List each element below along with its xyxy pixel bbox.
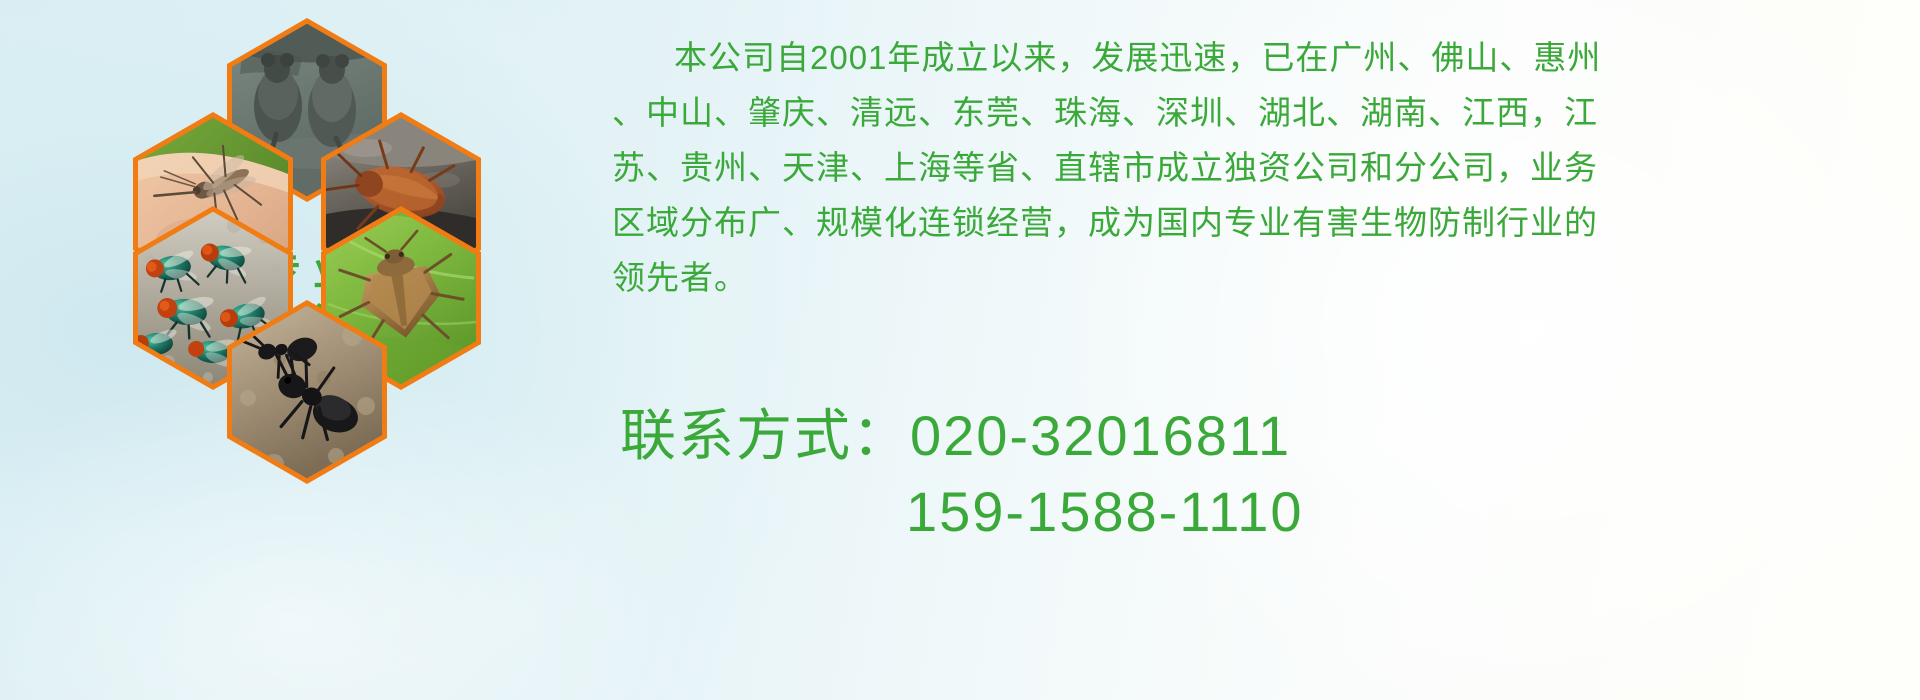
- honeycomb-photo-collage: 专业 防治: [85, 10, 585, 550]
- company-description: 本公司自2001年成立以来，发展迅速，已在广州、佛山、惠州 、中山、肇庆、清远、…: [612, 30, 1912, 305]
- contact-primary: 联系方式：020-32016811: [620, 398, 1910, 474]
- description-line-5: 领先者。: [612, 250, 1912, 305]
- pest-control-banner: 专业 防治: [0, 0, 1920, 700]
- phone-primary[interactable]: 020-32016811: [910, 404, 1291, 467]
- description-line-1: 本公司自2001年成立以来，发展迅速，已在广州、佛山、惠州: [612, 30, 1912, 85]
- contact-block: 联系方式：020-32016811 159-1588-1110: [620, 398, 1910, 550]
- phone-secondary[interactable]: 159-1588-1110: [620, 474, 1910, 550]
- description-line-2: 、中山、肇庆、清远、东莞、珠海、深圳、湖北、湖南、江西，江: [612, 85, 1912, 140]
- description-line-3: 苏、贵州、天津、上海等省、直辖市成立独资公司和分公司，业务: [612, 140, 1912, 195]
- contact-label: 联系方式：: [620, 404, 910, 467]
- description-line-4: 区域分布广、规模化连锁经营，成为国内专业有害生物防制行业的: [612, 195, 1912, 250]
